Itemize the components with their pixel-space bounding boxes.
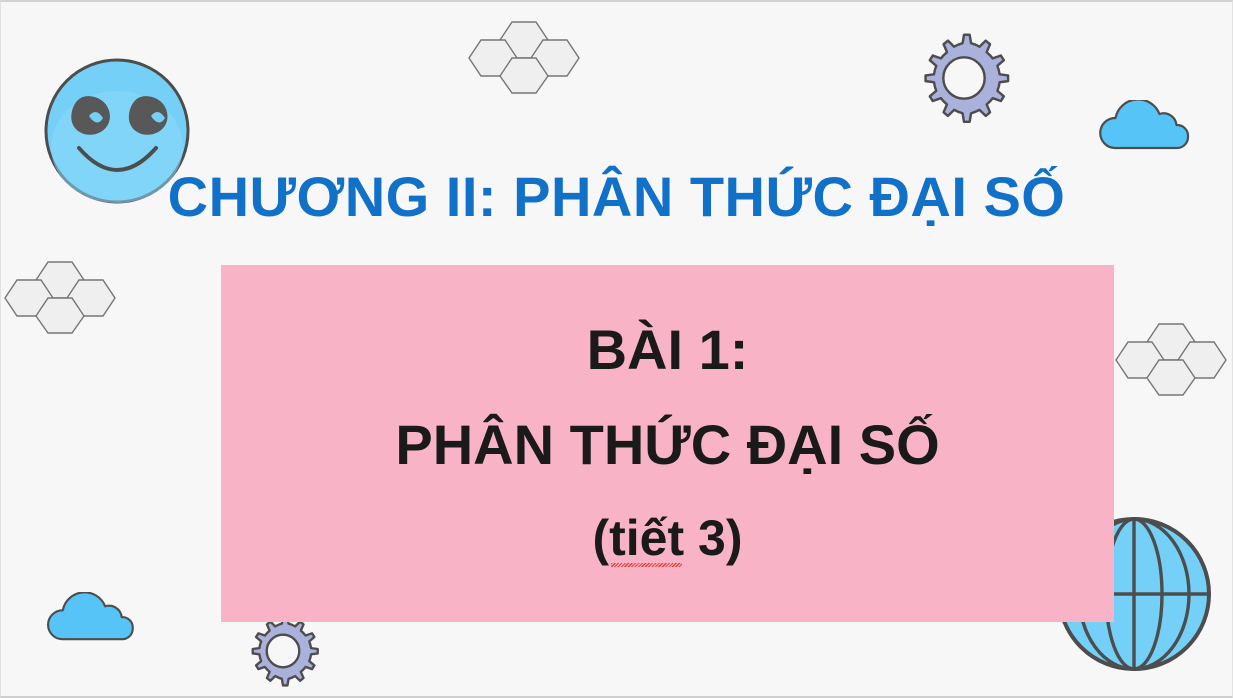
presentation-slide: CHƯƠNG II: PHÂN THỨC ĐẠI SỐ BÀI 1: PHÂN … [0, 0, 1233, 698]
cloud-icon [1095, 100, 1209, 152]
hexagon-cluster-icon [1114, 322, 1233, 396]
chapter-title: CHƯƠNG II: PHÂN THỨC ĐẠI SỐ [1, 168, 1232, 227]
hexagon-cluster-icon [3, 260, 127, 334]
lesson-period-word-misspelled: tiết [609, 511, 684, 565]
cloud-icon [43, 592, 153, 644]
gear-icon [246, 614, 320, 688]
lesson-period-line: (tiết 3) [592, 511, 742, 565]
lesson-title-panel: BÀI 1: PHÂN THỨC ĐẠI SỐ (tiết 3) [221, 265, 1114, 622]
lesson-name-line: PHÂN THỨC ĐẠI SỐ [395, 415, 939, 475]
lesson-period-suffix: 3) [684, 510, 742, 566]
gear-icon [917, 31, 1011, 125]
hexagon-cluster-icon [467, 20, 591, 94]
lesson-number-line: BÀI 1: [587, 320, 749, 380]
lesson-period-prefix: ( [592, 510, 609, 566]
